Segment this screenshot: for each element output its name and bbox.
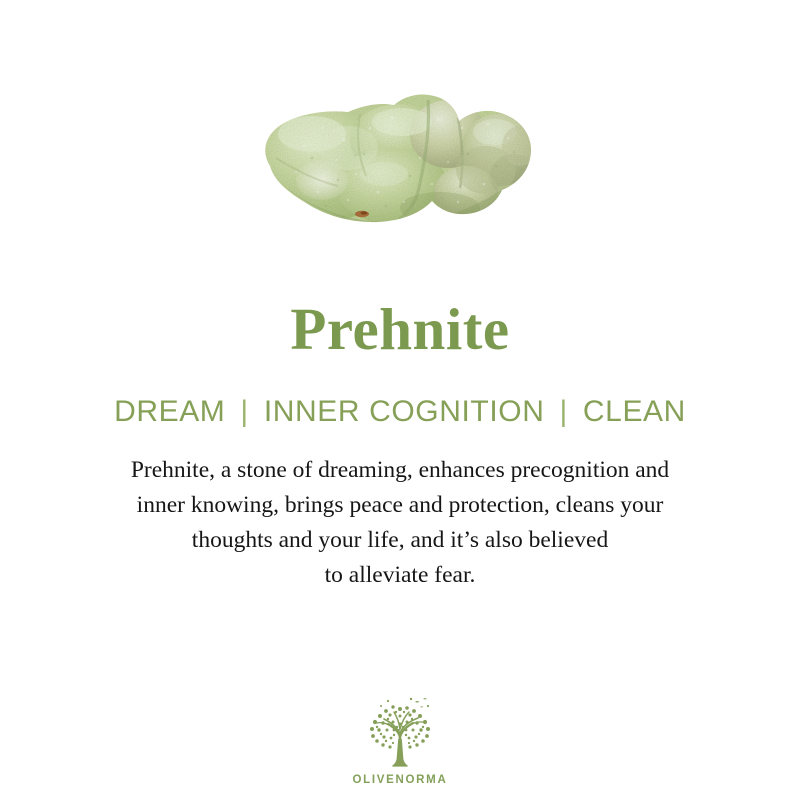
- page-title: Prehnite: [290, 300, 509, 359]
- product-description: Prehnite, a stone of dreaming, enhances …: [40, 453, 760, 593]
- specimen-image-area: [0, 0, 800, 300]
- keyword-separator: |: [546, 395, 580, 429]
- keyword-inner-cognition: INNER COGNITION: [262, 395, 547, 429]
- description-line: inner knowing, brings peace and protecti…: [40, 488, 760, 523]
- description-line: Prehnite, a stone of dreaming, enhances …: [40, 453, 760, 488]
- product-info-card: Prehnite DREAM | INNER COGNITION | CLEAN…: [0, 0, 800, 800]
- olive-tree-icon: [357, 695, 443, 773]
- prehnite-specimen-photo: [252, 88, 542, 236]
- keyword-dream: DREAM: [112, 395, 227, 429]
- brand-name: OLIVENORMA: [353, 774, 448, 786]
- keyword-separator: |: [227, 395, 261, 429]
- keyword-clean: CLEAN: [581, 395, 688, 429]
- keyword-list: DREAM | INNER COGNITION | CLEAN: [112, 395, 688, 429]
- description-line: thoughts and your life, and it’s also be…: [40, 523, 760, 558]
- description-line: to alleviate fear.: [40, 558, 760, 593]
- brand-logo: OLIVENORMA: [0, 695, 800, 786]
